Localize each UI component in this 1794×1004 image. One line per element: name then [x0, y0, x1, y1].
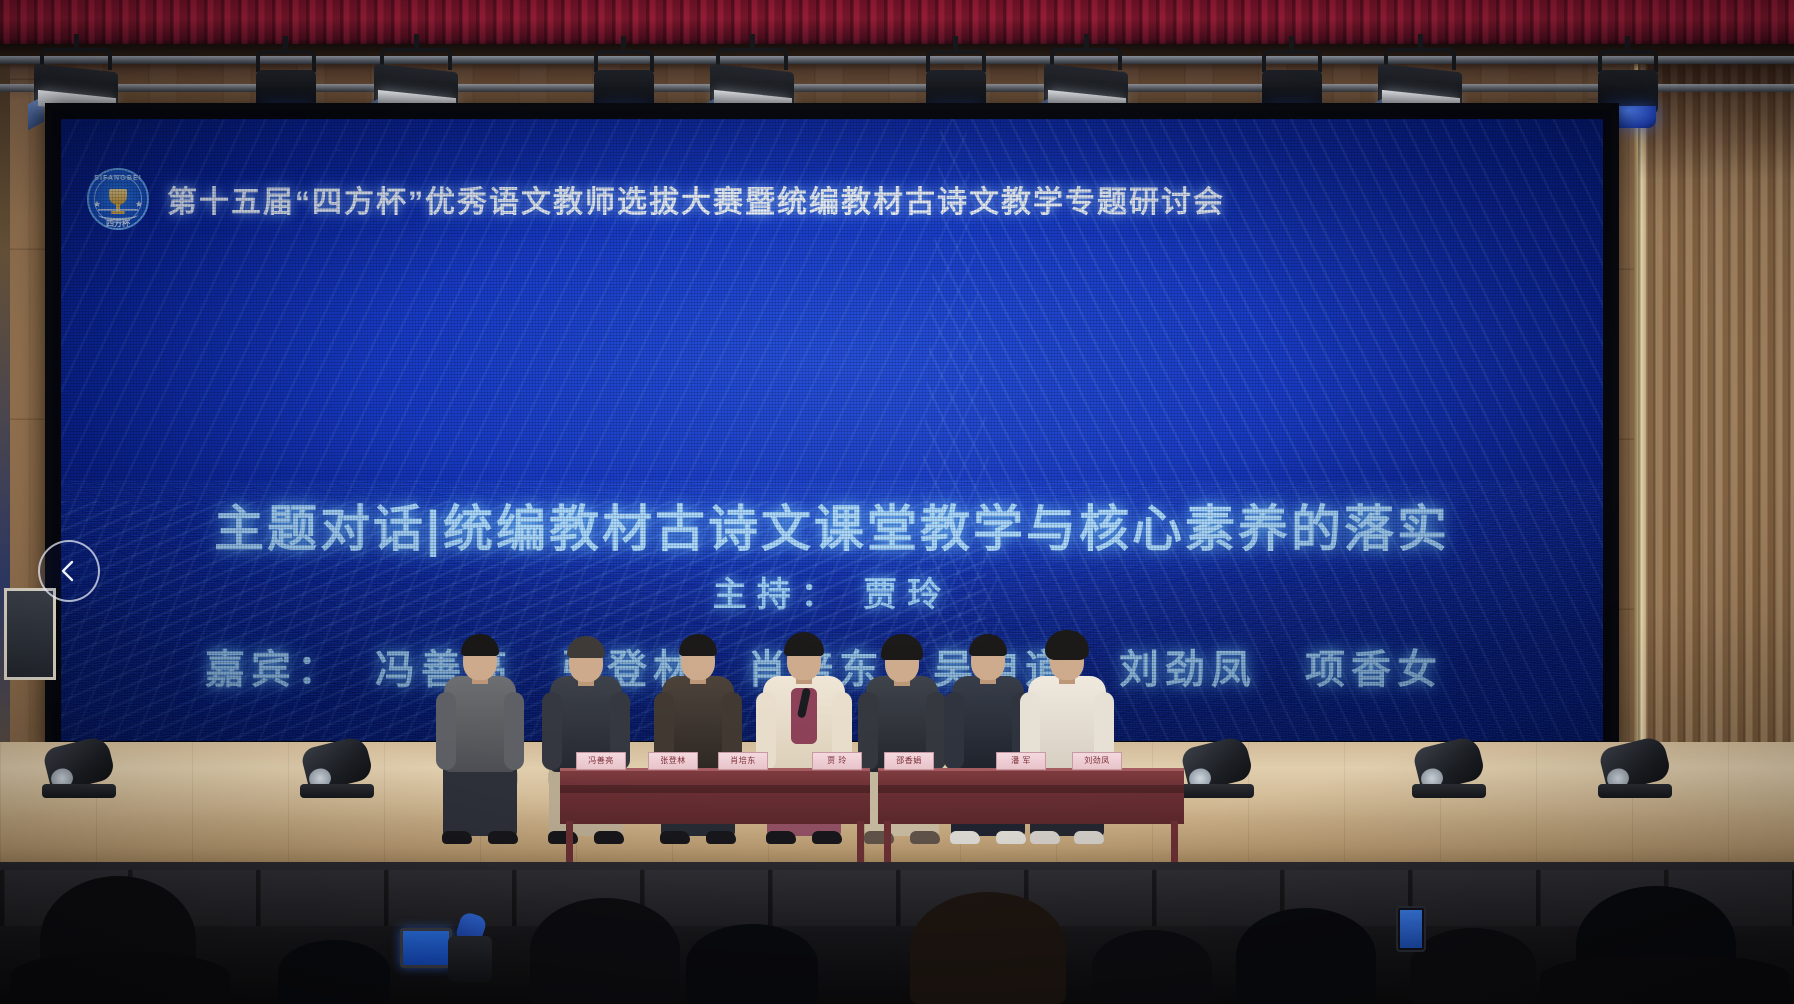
moving-head-light	[1598, 736, 1672, 798]
panelist-arm	[504, 692, 524, 770]
guest-label: 嘉宾：	[205, 647, 343, 692]
name-card: 肖培东	[718, 752, 768, 770]
audience-head	[1092, 930, 1212, 1004]
sifangbei-logo-icon: SIFANGBEI ★ ★ 四方杯	[87, 168, 149, 230]
table-leg	[566, 821, 573, 867]
panelist-shoe	[488, 831, 518, 844]
moving-head-light	[1180, 736, 1254, 798]
moving-head-light	[300, 736, 374, 798]
panelist-shoe	[1074, 831, 1104, 844]
mover-base	[1412, 784, 1486, 798]
panelist-shoe	[660, 831, 690, 844]
audience-head	[530, 898, 680, 1004]
table-leg	[857, 821, 864, 867]
mover-base	[1180, 784, 1254, 798]
moving-head-light	[42, 736, 116, 798]
guest-name: 刘劲凤	[1119, 647, 1257, 692]
audience-shoulders	[1540, 954, 1790, 1004]
phone-screen	[1400, 910, 1422, 948]
panelist-shoe	[442, 831, 472, 844]
wall-access-panel	[4, 588, 56, 680]
panel-table-left	[560, 768, 870, 824]
panelist-hair	[1045, 630, 1089, 660]
mover-base	[42, 784, 116, 798]
panelist-shoe	[706, 831, 736, 844]
red-curtain-valance	[0, 0, 1794, 46]
slide-main-title: 主题对话|统编教材古诗文课堂教学与核心素养的落实	[61, 489, 1603, 561]
name-card: 张登林	[648, 752, 698, 770]
panelist-figure	[434, 640, 526, 836]
light-yoke	[1598, 50, 1658, 72]
mover-base	[1598, 784, 1672, 798]
light-yoke	[926, 50, 986, 72]
camera-screen	[400, 928, 452, 968]
name-card: 刘劲凤	[1072, 752, 1122, 770]
light-yoke	[594, 50, 654, 72]
panelist-arm	[542, 692, 562, 770]
video-camera-rig	[400, 906, 510, 990]
mover-base	[300, 784, 374, 798]
light-yoke	[1262, 50, 1322, 72]
event-header-title: 第十五届“四方杯”优秀语文教师选拔大赛暨统编教材古诗文教学专题研讨会	[167, 177, 1225, 221]
table-apron	[878, 785, 1184, 793]
audience-seat-row	[0, 870, 1794, 926]
table-leg	[884, 821, 891, 867]
panelist-legs	[443, 762, 517, 836]
slide-header: SIFANGBEI ★ ★ 四方杯 第十五届“四方杯”优秀语文教师选拔大赛暨统编…	[87, 167, 1573, 231]
logo-star-right-icon: ★	[135, 200, 143, 209]
panelist-shoe	[1030, 831, 1060, 844]
light-yoke	[256, 50, 316, 72]
name-card: 潘 军	[996, 752, 1046, 770]
stage-photograph: SIFANGBEI ★ ★ 四方杯 第十五届“四方杯”优秀语文教师选拔大赛暨统编…	[0, 0, 1794, 1004]
audience-head	[1410, 928, 1536, 1004]
moving-head-light	[1412, 736, 1486, 798]
previous-slide-button[interactable]	[38, 540, 100, 602]
guest-name: 项香女	[1305, 647, 1443, 692]
name-card: 贾 玲	[812, 752, 862, 770]
audience-head	[686, 924, 818, 1004]
audience-shoulders	[10, 952, 230, 1004]
slide-host-line: 主持： 贾玲	[61, 567, 1603, 616]
table-apron	[560, 785, 870, 793]
panel-table-right	[878, 768, 1184, 824]
name-card: 邵香娟	[884, 752, 934, 770]
logo-arc-text: SIFANGBEI	[89, 175, 147, 182]
panelist-shoe	[548, 831, 578, 844]
panelist-shoe	[910, 831, 940, 844]
panelist-shoe	[812, 831, 842, 844]
table-leg	[1171, 821, 1178, 867]
panelist-shoe	[766, 831, 796, 844]
name-card: 冯善亮	[576, 752, 626, 770]
camera-body	[448, 936, 492, 982]
audience-phone	[1396, 906, 1426, 952]
panelist-arm	[436, 692, 456, 770]
chevron-left-icon	[56, 558, 82, 584]
panelist-shoe	[950, 831, 980, 844]
audience-head	[1236, 908, 1376, 1004]
logo-star-left-icon: ★	[93, 200, 101, 209]
panelist-arm	[944, 692, 964, 770]
audience-head	[278, 940, 390, 1004]
audience-head	[910, 892, 1066, 1004]
right-stage-curtain	[1638, 60, 1794, 780]
logo-sub-text: 四方杯	[89, 218, 147, 229]
panelist-shoe	[594, 831, 624, 844]
